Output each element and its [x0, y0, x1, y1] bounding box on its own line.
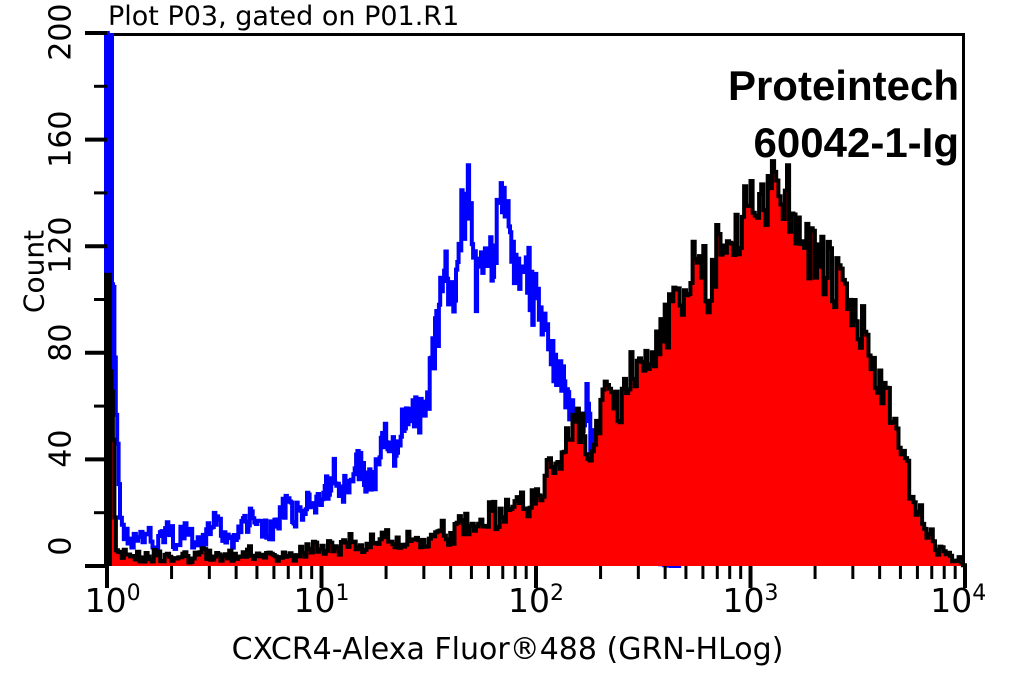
x-tick-exponent: 0: [127, 581, 141, 606]
x-tick-mantissa: 10: [508, 581, 550, 620]
y-tick-label: 160: [44, 110, 79, 168]
x-tick-label: 102: [508, 581, 564, 620]
x-tick-label: 101: [294, 581, 350, 620]
x-tick-label: 103: [723, 581, 779, 620]
x-tick-mantissa: 10: [723, 581, 765, 620]
y-tick-label: 120: [44, 217, 79, 275]
x-tick-label: 104: [930, 581, 986, 620]
y-tick-label: 80: [44, 323, 79, 381]
x-tick-mantissa: 10: [85, 581, 127, 620]
x-tick-exponent: 2: [550, 581, 564, 606]
y-axis-tick-labels: 04080120160200: [36, 0, 98, 600]
x-axis-tick-labels: 100101102103104: [0, 575, 1015, 625]
y-tick-label: 40: [44, 430, 79, 488]
watermark: Proteintech 60042-1-Ig: [728, 58, 959, 171]
watermark-brand: Proteintech: [728, 58, 959, 115]
x-tick-mantissa: 10: [930, 581, 972, 620]
x-tick-exponent: 3: [765, 581, 779, 606]
x-tick-exponent: 1: [336, 581, 350, 606]
flow-cytometry-plot: Plot P03, gated on P01.R1 Proteintech 60…: [0, 0, 1015, 683]
page-title: Plot P03, gated on P01.R1: [108, 2, 459, 32]
y-tick-label: 200: [44, 4, 79, 62]
x-axis-title: CXCR4-Alexa Fluor®488 (GRN-HLog): [0, 632, 1015, 667]
x-tick-mantissa: 10: [294, 581, 336, 620]
watermark-catalog-number: 60042-1-Ig: [728, 115, 959, 172]
x-tick-exponent: 4: [972, 581, 986, 606]
x-tick-label: 100: [85, 581, 141, 620]
